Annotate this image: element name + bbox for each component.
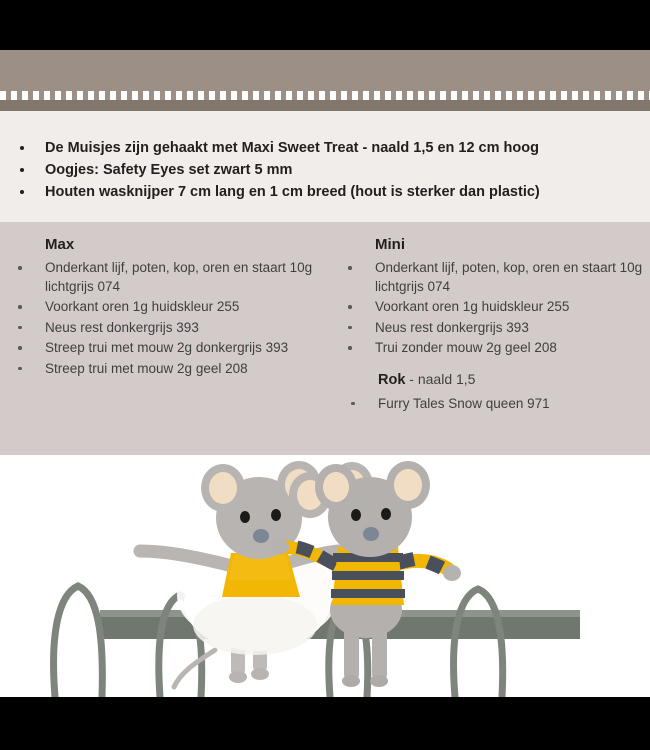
rok-list: Furry Tales Snow queen 971 [330, 394, 650, 415]
list-item: Neus rest donkergrijs 393 [330, 318, 650, 339]
column-max: Max Onderkant lijf, poten, kop, oren en … [0, 222, 330, 379]
header-dot-border [0, 91, 650, 100]
list-item: Onderkant lijf, poten, kop, oren en staa… [330, 258, 650, 297]
poster-page: Gebruikte materialen De Muisjes zijn geh… [0, 0, 650, 750]
header-shadow-strip [0, 100, 650, 111]
list-item: Neus rest donkergrijs 393 [0, 318, 330, 339]
list-item: Oogjes: Safety Eyes set zwart 5 mm [0, 159, 650, 181]
column-heading-mini: Mini [330, 222, 650, 253]
product-photo [0, 455, 650, 697]
sub-heading-rok: Rok - naald 1,5 [330, 359, 650, 388]
list-item: Furry Tales Snow queen 971 [330, 394, 650, 415]
top-black-bar [0, 0, 650, 50]
column-mini: Mini Onderkant lijf, poten, kop, oren en… [330, 222, 650, 414]
list-item: Trui zonder mouw 2g geel 208 [330, 338, 650, 359]
intro-section: De Muisjes zijn gehaakt met Maxi Sweet T… [0, 111, 650, 222]
list-item: Streep trui met mouw 2g donkergrijs 393 [0, 338, 330, 359]
list-item: Streep trui met mouw 2g geel 208 [0, 359, 330, 380]
intro-list: De Muisjes zijn gehaakt met Maxi Sweet T… [0, 137, 650, 203]
sub-heading-label: Rok [378, 372, 405, 388]
list-item: Voorkant oren 1g huidskleur 255 [0, 297, 330, 318]
column-heading-max: Max [0, 222, 330, 253]
mini-list: Onderkant lijf, poten, kop, oren en staa… [330, 258, 650, 359]
sub-heading-note: - naald 1,5 [405, 371, 475, 387]
list-item: Houten wasknijper 7 cm lang en 1 cm bree… [0, 181, 650, 203]
mice-photo-illustration [0, 455, 650, 697]
list-item: De Muisjes zijn gehaakt met Maxi Sweet T… [0, 137, 650, 159]
materials-panel: Max Onderkant lijf, poten, kop, oren en … [0, 222, 650, 455]
list-item: Voorkant oren 1g huidskleur 255 [330, 297, 650, 318]
list-item: Onderkant lijf, poten, kop, oren en staa… [0, 258, 330, 297]
max-list: Onderkant lijf, poten, kop, oren en staa… [0, 258, 330, 379]
bottom-black-bar [0, 697, 650, 750]
